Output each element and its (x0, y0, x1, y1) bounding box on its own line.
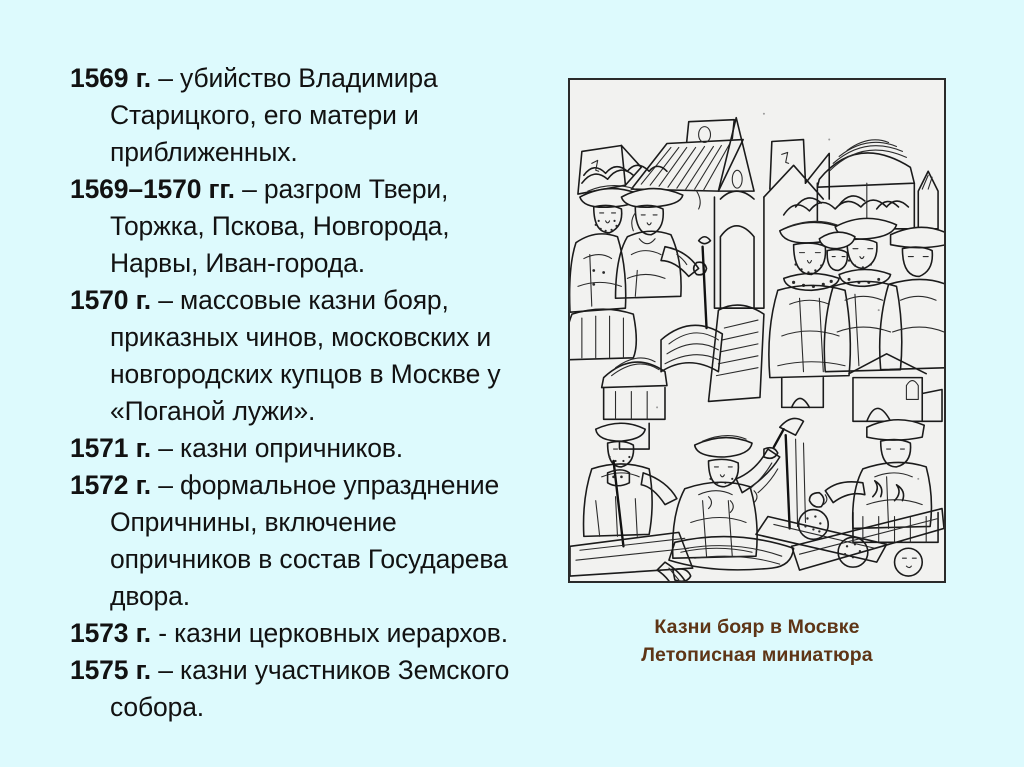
chronology-item: 1570 г. – массовые казни бояр, приказных… (70, 282, 540, 430)
slide-root: 1569 г. – убийство Владимира Старицкого,… (0, 0, 1024, 767)
chronicle-miniature-image (568, 78, 946, 583)
chronology-item-year: 1569 г. (70, 63, 151, 93)
image-caption: Казни бояр в Мосвке Летописная миниатюра (568, 613, 946, 669)
chronology-item-dash: – (158, 470, 173, 500)
chronology-item: 1572 г. – формальное упразднение Опрични… (70, 467, 540, 615)
chronology-item: 1569–1570 гг. – разгром Твери, Торжка, П… (70, 171, 540, 282)
caption-line-1: Казни бояр в Мосвке (568, 613, 946, 641)
chronology-item: 1573 г. - казни церковных иерархов. (70, 615, 540, 652)
chronology-item-year: 1569–1570 гг. (70, 174, 235, 204)
chronology-list: 1569 г. – убийство Владимира Старицкого,… (70, 60, 540, 726)
chronology-item-dash: – (158, 655, 173, 685)
chronology-item: 1571 г. – казни опричников. (70, 430, 540, 467)
chronology-item-dash: - (158, 618, 167, 648)
chronology-item-year: 1573 г. (70, 618, 151, 648)
chronology-item-dash: – (158, 63, 173, 93)
chronology-item: 1569 г. – убийство Владимира Старицкого,… (70, 60, 540, 171)
chronology-item-dash: – (242, 174, 257, 204)
chronology-item-text: казни церковных иерархов. (174, 618, 508, 648)
chronology-item-year: 1575 г. (70, 655, 151, 685)
chronology-item-dash: – (158, 285, 173, 315)
chronicle-miniature-drawing (570, 80, 944, 581)
chronology-item-year: 1570 г. (70, 285, 151, 315)
illustration-block: Казни бояр в Мосвке Летописная миниатюра (568, 78, 946, 669)
caption-line-2: Летописная миниатюра (568, 641, 946, 669)
chronology-item-year: 1572 г. (70, 470, 151, 500)
chronology-item-year: 1571 г. (70, 433, 151, 463)
chronology-item: 1575 г. – казни участников Земского собо… (70, 652, 540, 726)
chronology-item-dash: – (158, 433, 173, 463)
chronology-item-text: казни опричников. (180, 433, 403, 463)
